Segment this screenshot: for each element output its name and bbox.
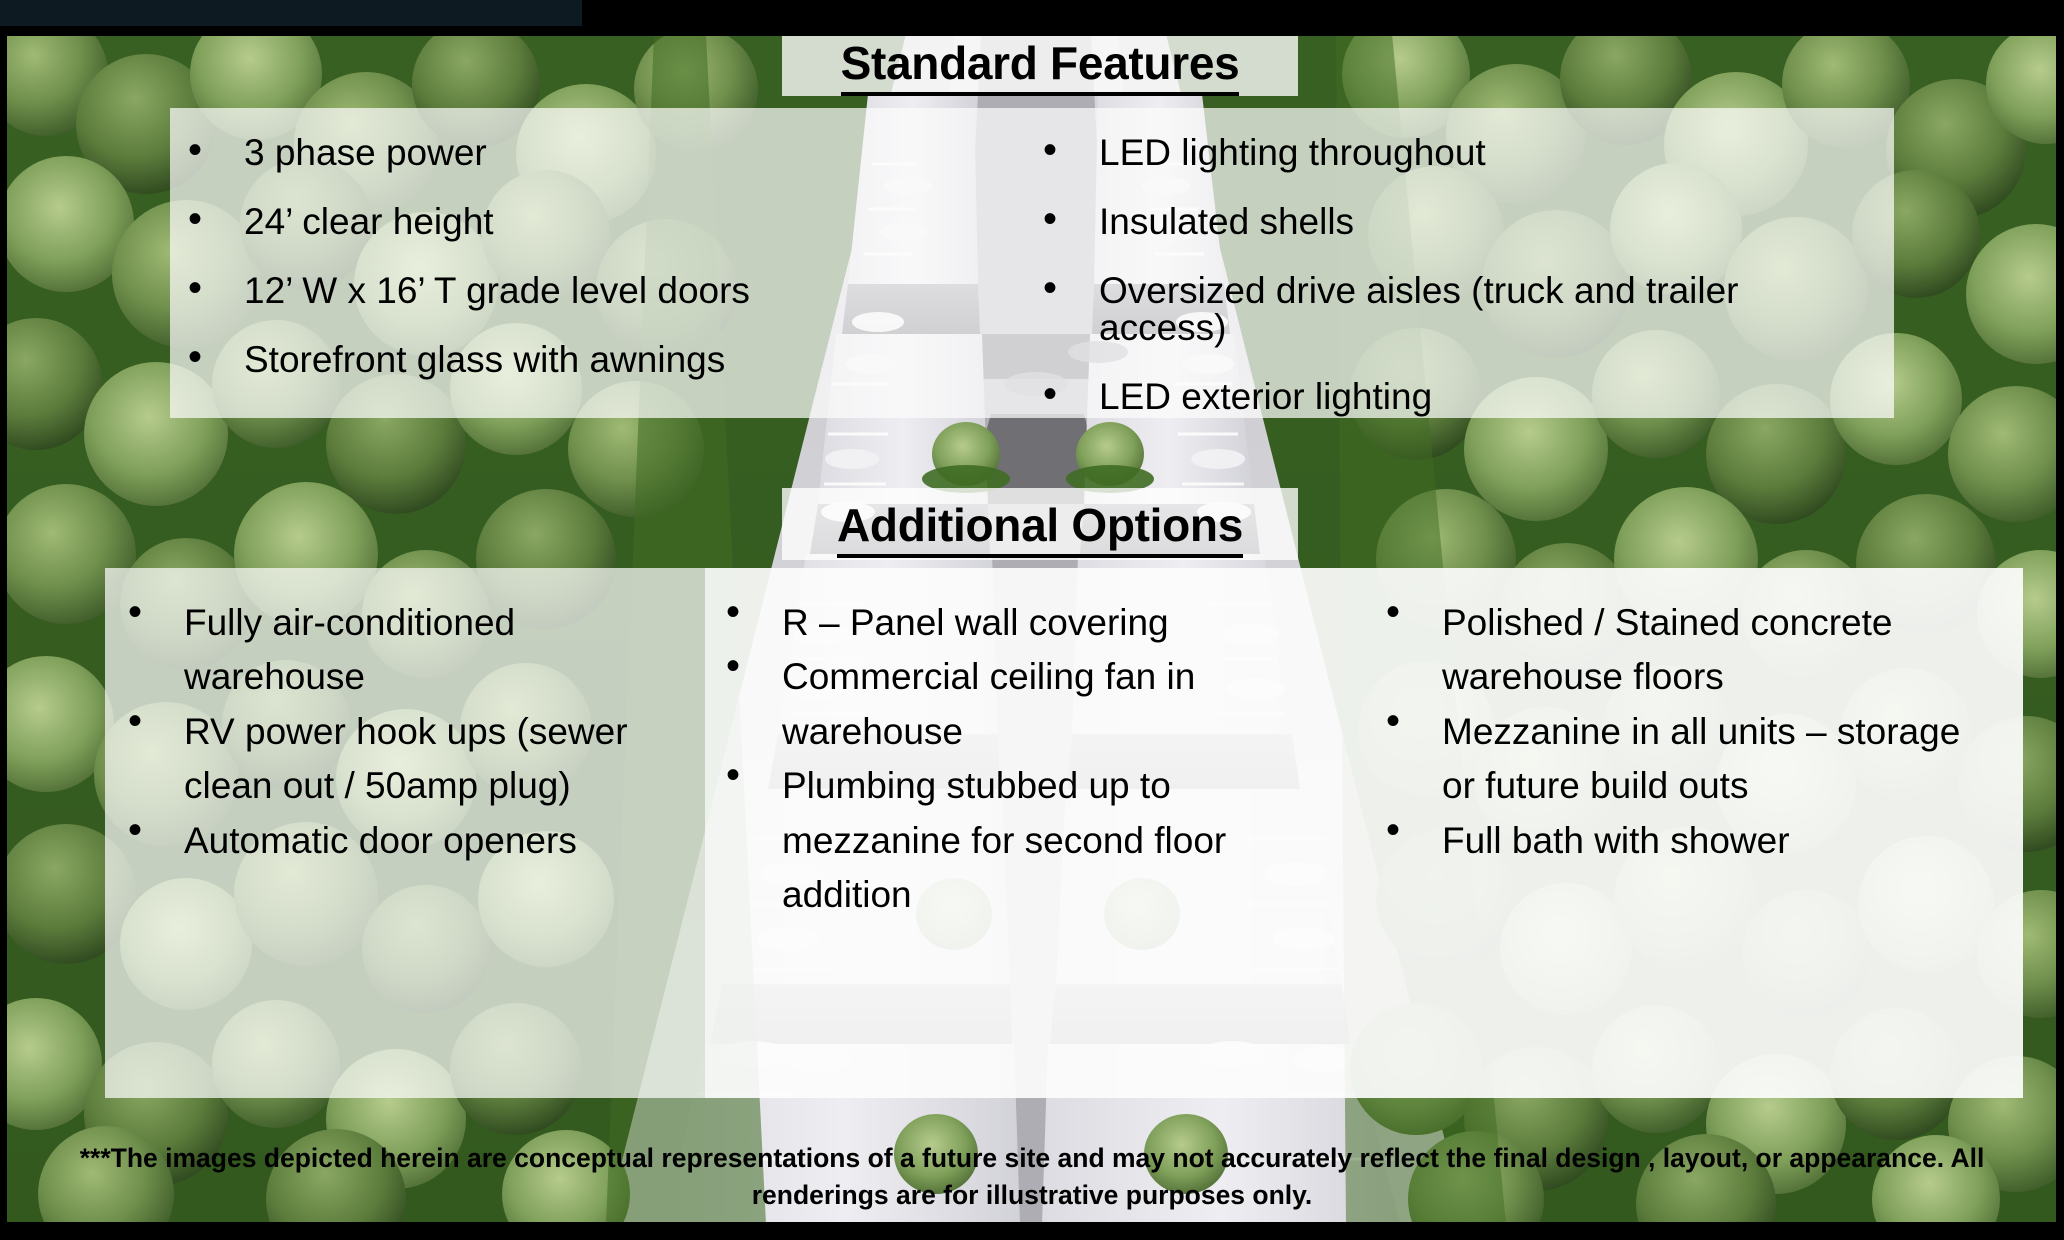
standard-features-left-list: 3 phase power 24’ clear height 12’ W x 1… <box>180 134 880 410</box>
standard-features-right-list: LED lighting throughout Insulated shells… <box>1035 134 1875 447</box>
right-border-bar <box>2056 0 2064 1240</box>
additional-options-column-3: Polished / Stained concrete warehouse fl… <box>1378 596 1998 868</box>
list-item: LED exterior lighting <box>1035 378 1875 415</box>
additional-options-heading-text: Additional Options <box>837 499 1243 558</box>
list-item: RV power hook ups (sewer clean out / 50a… <box>120 705 660 814</box>
standard-features-heading-text: Standard Features <box>841 37 1240 96</box>
list-item: Mezzanine in all units – storage or futu… <box>1378 705 1998 814</box>
standard-features-heading: Standard Features <box>782 36 1298 90</box>
bottom-border-bar <box>0 1222 2064 1240</box>
list-item: Polished / Stained concrete warehouse fl… <box>1378 596 1998 705</box>
list-item: Fully air-conditioned warehouse <box>120 596 660 705</box>
left-border-bar <box>0 0 7 1240</box>
list-item: R – Panel wall covering <box>718 596 1278 650</box>
list-item: Storefront glass with awnings <box>180 341 880 378</box>
top-navy-bar <box>0 0 582 26</box>
list-item: 12’ W x 16’ T grade level doors <box>180 272 880 309</box>
list-item: Plumbing stubbed up to mezzanine for sec… <box>718 759 1278 922</box>
list-item: Full bath with shower <box>1378 814 1998 868</box>
list-item: Insulated shells <box>1035 203 1875 240</box>
additional-options-heading: Additional Options <box>782 498 1298 552</box>
list-item: Automatic door openers <box>120 814 660 868</box>
disclaimer-text: ***The images depicted herein are concep… <box>40 1140 2024 1213</box>
list-item: 3 phase power <box>180 134 880 171</box>
additional-options-column-1: Fully air-conditioned warehouse RV power… <box>120 596 660 868</box>
list-item: Commercial ceiling fan in warehouse <box>718 650 1278 759</box>
list-item: 24’ clear height <box>180 203 880 240</box>
additional-options-column-2: R – Panel wall covering Commercial ceili… <box>718 596 1278 922</box>
list-item: LED lighting throughout <box>1035 134 1875 171</box>
list-item: Oversized drive aisles (truck and traile… <box>1035 272 1875 346</box>
slide-canvas: Standard Features 3 phase power 24’ clea… <box>0 0 2064 1240</box>
